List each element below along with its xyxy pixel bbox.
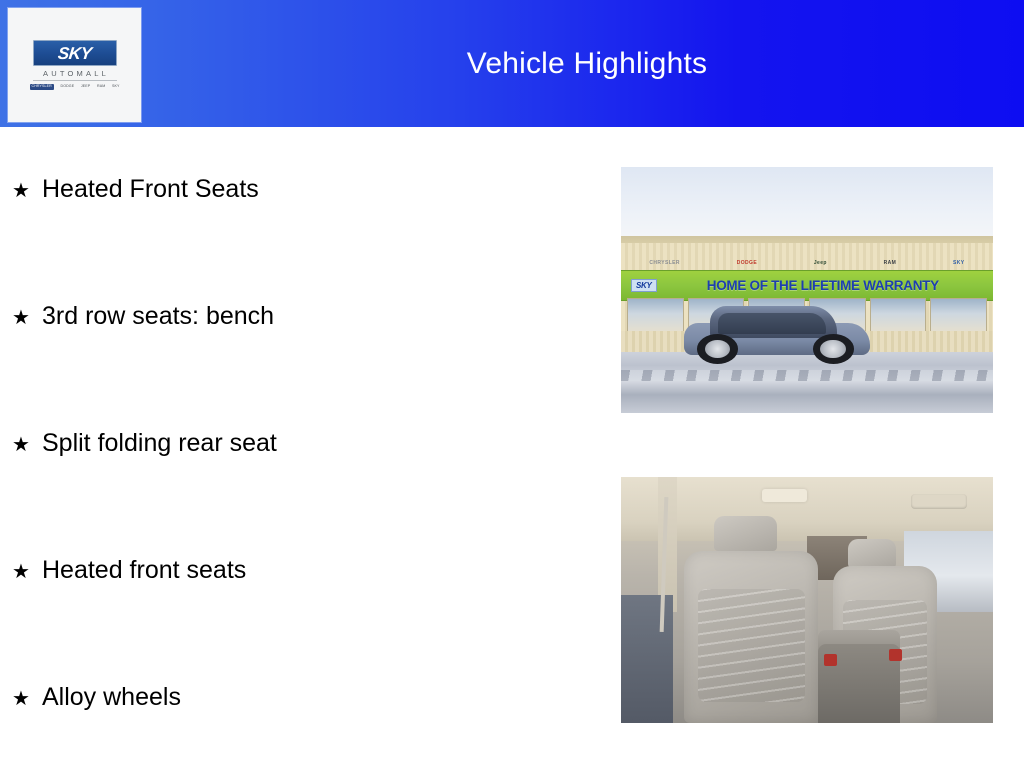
logo-brand-dodge: DODGE: [61, 85, 75, 89]
star-icon: ★: [12, 562, 42, 582]
star-icon: ★: [12, 308, 42, 328]
highlight-label: Heated front seats: [42, 558, 246, 583]
dome-light-icon: [762, 489, 807, 501]
logo-divider: [33, 80, 117, 81]
vehicle-rear-wheel: [813, 334, 854, 364]
seat-stitching: [698, 589, 805, 703]
page-title: Vehicle Highlights: [150, 0, 1024, 127]
grab-handle: [911, 494, 967, 509]
highlight-label: Alloy wheels: [42, 685, 181, 710]
page-header: Vehicle Highlights: [0, 0, 1024, 127]
logo-brand-ram: RAM: [97, 85, 105, 89]
star-icon: ★: [12, 181, 42, 201]
list-item: ★ 3rd row seats: bench: [12, 304, 274, 329]
window-pane: [870, 298, 927, 332]
highlight-label: Split folding rear seat: [42, 431, 277, 456]
window-pane: [627, 298, 684, 332]
passenger-headrest: [848, 539, 896, 569]
building-brand-dodge: DODGE: [737, 260, 757, 266]
logo-brand-chrysler: CHRYSLER: [30, 84, 54, 90]
highlight-label: Heated Front Seats: [42, 177, 259, 202]
building-brand-chrysler: CHRYSLER: [649, 260, 680, 266]
logo-brand-strip: CHRYSLER DODGE JEEP RAM SKY: [30, 84, 120, 90]
logo-brand-jeep: JEEP: [81, 85, 90, 89]
highlight-label: 3rd row seats: bench: [42, 304, 274, 329]
seatbelt-buckle: [824, 654, 837, 666]
star-icon: ★: [12, 689, 42, 709]
vehicle-windows: [718, 313, 826, 334]
logo-brand-sky: SKY: [112, 85, 120, 89]
logo-automall-text: AUTOMALL: [40, 69, 109, 78]
window-pane: [930, 298, 987, 332]
sky-logo-plate: SKY: [33, 40, 117, 66]
driver-headrest: [714, 516, 777, 550]
vehicle-front-wheel: [697, 334, 738, 364]
logo-inner: SKY AUTOMALL CHRYSLER DODGE JEEP RAM SKY: [27, 40, 123, 90]
dealer-logo-card: SKY AUTOMALL CHRYSLER DODGE JEEP RAM SKY: [8, 8, 141, 122]
driver-seat: [684, 551, 818, 723]
door-panel: [621, 595, 673, 723]
banner-text: HOME OF THE LIFETIME WARRANTY: [657, 278, 993, 293]
warranty-banner: SKY HOME OF THE LIFETIME WARRANTY: [621, 270, 993, 300]
building-brand-row: CHRYSLER DODGE Jeep RAM SKY: [621, 256, 993, 271]
building-brand-sky: SKY: [953, 260, 964, 266]
building-brand-jeep: Jeep: [814, 260, 827, 266]
list-item: ★ Heated Front Seats: [12, 177, 259, 202]
logo-sky-text: SKY: [57, 45, 92, 62]
seatbelt-buckle: [889, 649, 902, 661]
vehicle-interior-photo: [621, 477, 993, 723]
vehicle-silhouette: [684, 305, 870, 367]
vehicle-exterior-photo: CHRYSLER DODGE Jeep RAM SKY SKY HOME OF …: [621, 167, 993, 413]
star-icon: ★: [12, 435, 42, 455]
list-item: ★ Heated front seats: [12, 558, 246, 583]
highlights-list: ★ Heated Front Seats ★ 3rd row seats: be…: [0, 127, 600, 768]
banner-sky-logo: SKY: [631, 279, 657, 292]
list-item: ★ Split folding rear seat: [12, 431, 277, 456]
building-brand-ram: RAM: [884, 260, 897, 266]
list-item: ★ Alloy wheels: [12, 685, 181, 710]
